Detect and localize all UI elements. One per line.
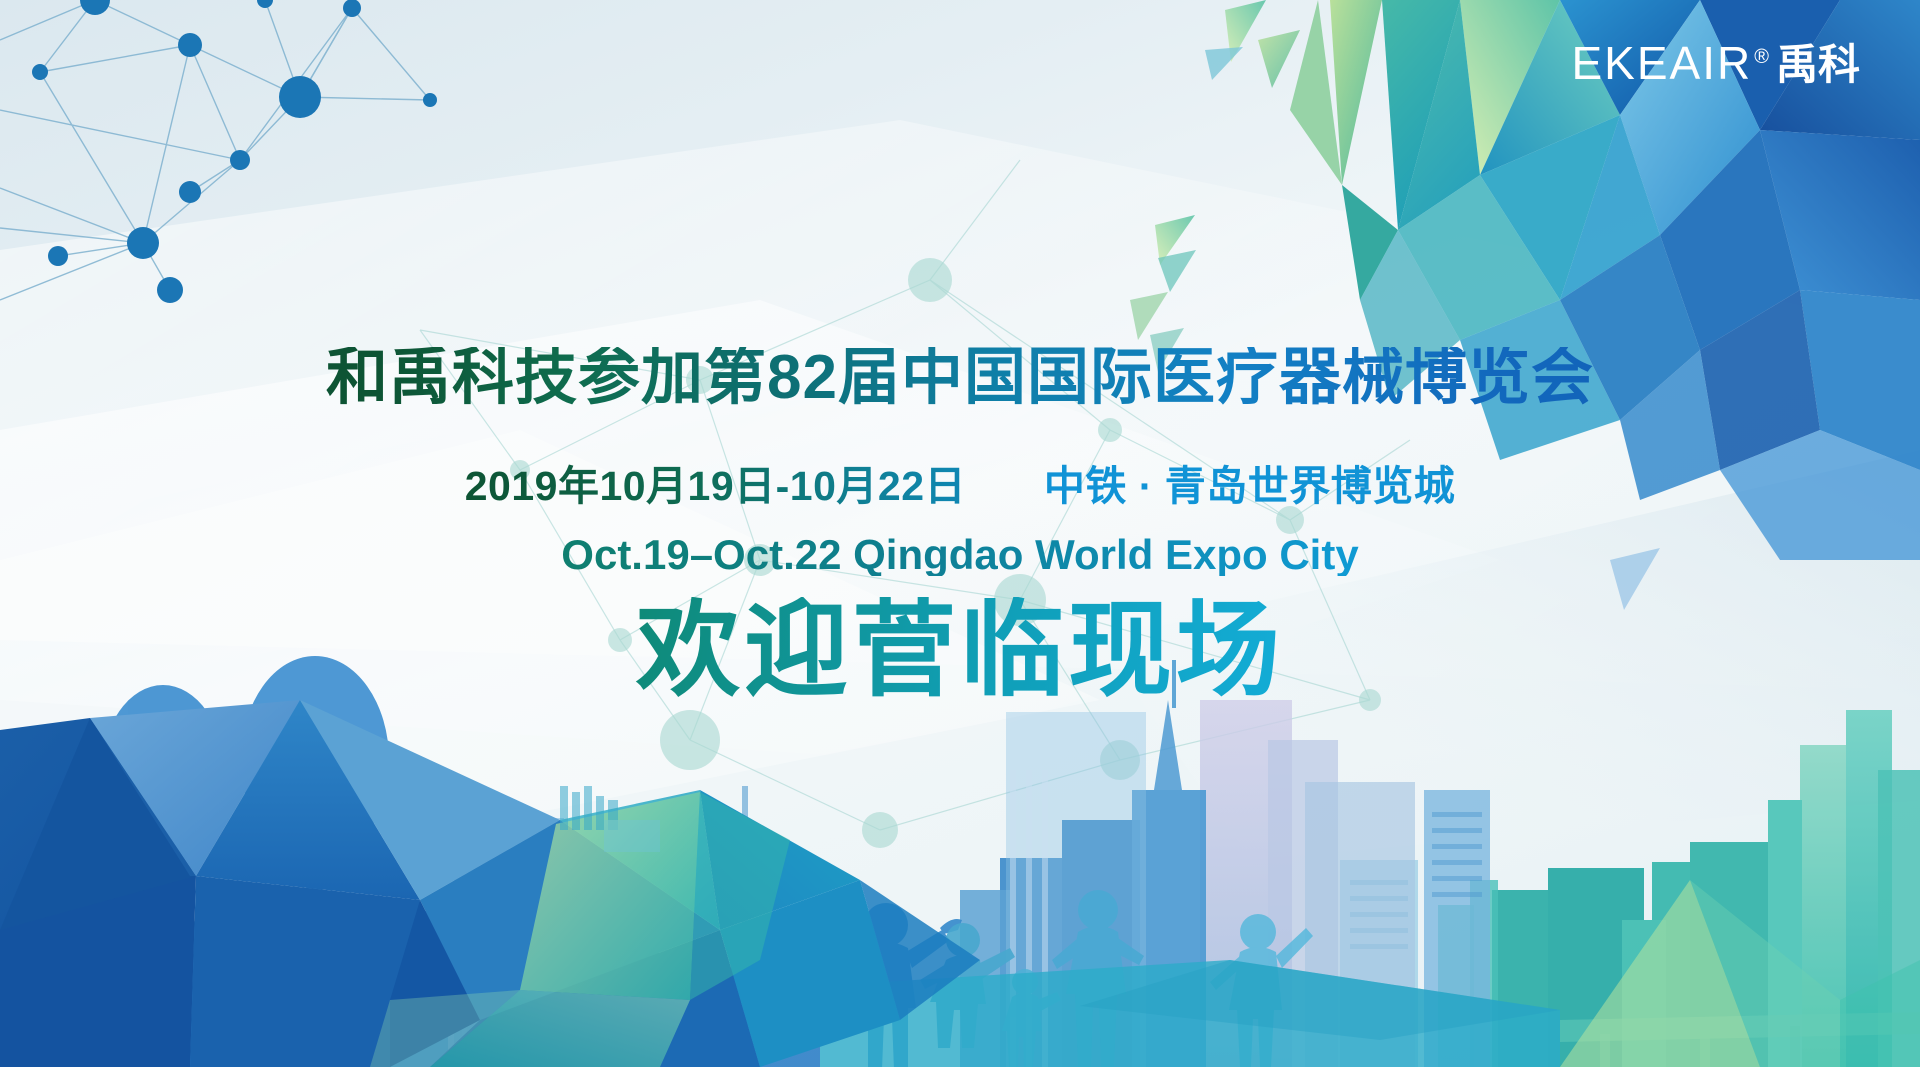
registered-trademark-icon: ® [1754,47,1770,67]
welcome-slogan: 欢迎菅临现场 [0,597,1920,706]
logo-latin-text: EKEAIR [1572,40,1753,86]
banner-content: 和禹科技参加第82届中国国际医疗器械博览会 2019年10月19日-10月22日… [0,0,1920,1067]
logo-chinese-text: 禹科 [1776,44,1860,86]
event-date-venue-en: Oct.19–Oct.22 Qingdao World Expo City [0,534,1920,576]
brand-logo[interactable]: EKEAIR ® 禹科 [1572,40,1861,86]
page-title: 和禹科技参加第82届中国国际医疗器械博览会 [0,347,1920,409]
event-venue-cn: 中铁 · 青岛世界博览城 [1044,463,1455,509]
event-date-cn: 2019年10月19日-10月22日 [465,463,966,509]
date-venue-line: 2019年10月19日-10月22日 中铁 · 青岛世界博览城 [0,466,1920,507]
exhibition-banner: EKEAIR ® 禹科 和禹科技参加第82届中国国际医疗器械博览会 2019年1… [0,0,1920,1067]
people-silhouettes [838,903,962,1067]
